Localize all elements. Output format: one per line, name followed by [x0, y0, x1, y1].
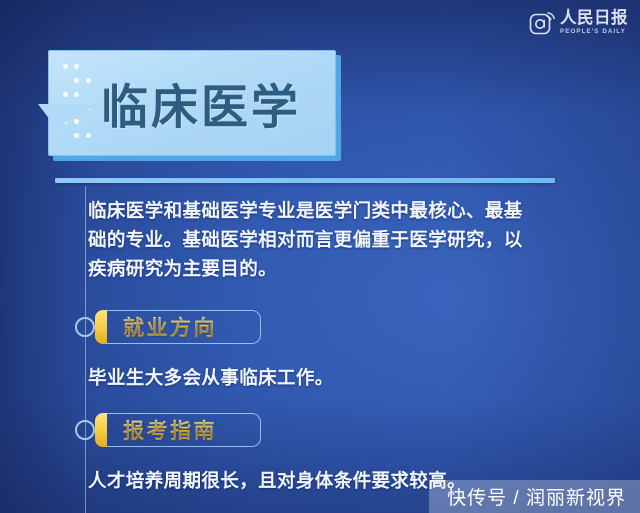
at-signal-icon: [529, 9, 556, 36]
title-tail: [38, 104, 98, 128]
peoples-daily-logo: 人民日报 PEOPLE'S DAILY: [529, 9, 628, 36]
section-badge-application-guide: 报考指南: [95, 413, 261, 447]
intro-paragraph: 临床医学和基础医学专业是医学门类中最核心、最基础的专业。基础医学相对而言更偏重于…: [88, 196, 540, 283]
title-bubble-panel: 临床医学: [48, 50, 336, 156]
page-title: 临床医学: [101, 69, 301, 138]
badge-accent-bar: [95, 310, 107, 344]
badge-frame: 就业方向: [95, 310, 261, 344]
title-bubble: 临床医学: [48, 50, 336, 156]
badge-label: 就业方向: [123, 312, 217, 342]
badge-label: 报考指南: [123, 415, 217, 445]
logo-name-cn: 人民日报: [560, 10, 628, 27]
header-divider: [55, 178, 555, 183]
logo-wordmark: 人民日报 PEOPLE'S DAILY: [560, 10, 628, 35]
watermark: 快传号 / 润丽新视界: [429, 480, 640, 513]
poster-canvas: 人民日报 PEOPLE'S DAILY 临床医学 临床医学和基础医学专业是医学门…: [0, 0, 640, 513]
section-body-application-guide: 人才培养周期很长，且对身体条件要求较高。: [88, 467, 466, 493]
section-badge-employment: 就业方向: [95, 310, 261, 344]
logo-name-en: PEOPLE'S DAILY: [560, 29, 628, 35]
badge-frame: 报考指南: [95, 413, 261, 447]
dot-pattern-decoration: [60, 60, 94, 142]
timeline-dot-2: [75, 420, 95, 440]
timeline-line: [85, 186, 86, 513]
badge-accent-bar: [95, 413, 107, 447]
timeline-dot-1: [75, 317, 95, 337]
section-body-employment: 毕业生大多会从事临床工作。: [88, 364, 334, 390]
